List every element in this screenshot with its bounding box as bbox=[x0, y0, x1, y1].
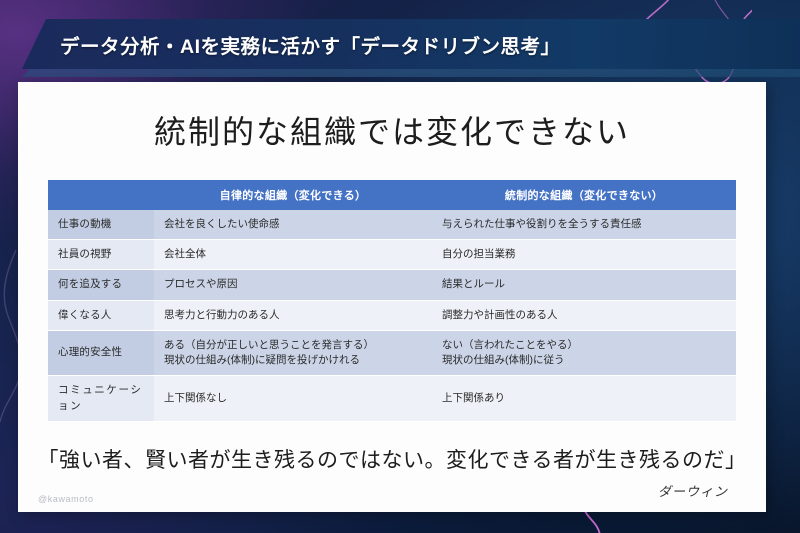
comparison-table: 自律的な組織（変化できる） 統制的な組織（変化できない） 仕事の動機 会社を良く… bbox=[48, 180, 736, 422]
row-controlled-line1: 与えられた仕事や役割りを全うする責任感 bbox=[442, 217, 726, 232]
row-controlled-value: ない（言われたことをやる） 現状の仕組み(体制)に従う bbox=[432, 330, 736, 375]
header-banner: データ分析・AIを実務に活かす「データドリブン思考」 bbox=[22, 19, 800, 69]
row-autonomous-line2: 現状の仕組み(体制)に疑問を投げかけれる bbox=[164, 353, 422, 368]
row-label: 偉くなる人 bbox=[48, 300, 154, 330]
page-title: 統制的な組織では変化できない bbox=[18, 107, 766, 153]
table-row: 偉くなる人 思考力と行動力のある人 調整力や計画性のある人 bbox=[48, 300, 736, 330]
row-autonomous-line1: 上下関係なし bbox=[164, 391, 422, 406]
row-autonomous-line1: 会社を良くしたい使命感 bbox=[164, 217, 422, 232]
row-autonomous-value: プロセスや原因 bbox=[154, 270, 432, 300]
table-row: 心理的安全性 ある（自分が正しいと思うことを発言する） 現状の仕組み(体制)に疑… bbox=[48, 330, 736, 375]
row-controlled-value: 与えられた仕事や役割りを全うする責任感 bbox=[432, 210, 736, 240]
row-label: 何を追及する bbox=[48, 270, 154, 300]
row-autonomous-value: 思考力と行動力のある人 bbox=[154, 300, 432, 330]
row-controlled-value: 結果とルール bbox=[432, 270, 736, 300]
row-label: コミュニケーション bbox=[48, 376, 154, 421]
table-row: コミュニケーション 上下関係なし 上下関係あり bbox=[48, 376, 736, 421]
table-header-row: 自律的な組織（変化できる） 統制的な組織（変化できない） bbox=[48, 180, 736, 210]
row-autonomous-line1: 思考力と行動力のある人 bbox=[164, 308, 422, 323]
row-controlled-line1: ない（言われたことをやる） bbox=[442, 338, 726, 353]
row-autonomous-line1: ある（自分が正しいと思うことを発言する） bbox=[164, 338, 422, 353]
table-row: 何を追及する プロセスや原因 結果とルール bbox=[48, 270, 736, 300]
table-header-autonomous: 自律的な組織（変化できる） bbox=[154, 180, 432, 210]
row-controlled-line1: 調整力や計画性のある人 bbox=[442, 308, 726, 323]
watermark: @kawamoto bbox=[38, 494, 94, 504]
table-body: 仕事の動機 会社を良くしたい使命感 与えられた仕事や役割りを全うする責任感 社員… bbox=[48, 210, 736, 421]
row-label: 社員の視野 bbox=[48, 240, 154, 270]
row-autonomous-value: 会社を良くしたい使命感 bbox=[154, 210, 432, 240]
content-card: 統制的な組織では変化できない 自律的な組織（変化できる） 統制的な組織（変化でき… bbox=[18, 82, 766, 512]
row-autonomous-value: ある（自分が正しいと思うことを発言する） 現状の仕組み(体制)に疑問を投げかけれ… bbox=[154, 330, 432, 375]
row-autonomous-value: 上下関係なし bbox=[154, 376, 432, 421]
row-label: 仕事の動機 bbox=[48, 210, 154, 240]
row-autonomous-line1: プロセスや原因 bbox=[164, 277, 422, 292]
row-label: 心理的安全性 bbox=[48, 330, 154, 375]
row-controlled-value: 上下関係あり bbox=[432, 376, 736, 421]
row-controlled-line1: 結果とルール bbox=[442, 277, 726, 292]
row-controlled-value: 自分の担当業務 bbox=[432, 240, 736, 270]
table-row: 仕事の動機 会社を良くしたい使命感 与えられた仕事や役割りを全うする責任感 bbox=[48, 210, 736, 240]
row-autonomous-value: 会社全体 bbox=[154, 240, 432, 270]
table-head: 自律的な組織（変化できる） 統制的な組織（変化できない） bbox=[48, 180, 736, 210]
quote-text: 「強い者、賢い者が生き残るのではない。変化できる者が生き残るのだ」 bbox=[18, 444, 766, 474]
row-controlled-line2: 現状の仕組み(体制)に従う bbox=[442, 353, 726, 368]
table-row: 社員の視野 会社全体 自分の担当業務 bbox=[48, 240, 736, 270]
table-header-corner bbox=[48, 180, 154, 210]
table-header-controlled: 統制的な組織（変化できない） bbox=[432, 180, 736, 210]
banner-underline bbox=[22, 69, 800, 77]
quote-attribution: ダーウィン bbox=[18, 481, 728, 500]
row-controlled-line1: 自分の担当業務 bbox=[442, 247, 726, 262]
header-banner-title: データ分析・AIを実務に活かす「データドリブン思考」 bbox=[60, 30, 561, 59]
slide-canvas: データ分析・AIを実務に活かす「データドリブン思考」 統制的な組織では変化できな… bbox=[0, 0, 800, 533]
row-autonomous-line1: 会社全体 bbox=[164, 247, 422, 262]
row-controlled-line1: 上下関係あり bbox=[442, 391, 726, 406]
row-controlled-value: 調整力や計画性のある人 bbox=[432, 300, 736, 330]
